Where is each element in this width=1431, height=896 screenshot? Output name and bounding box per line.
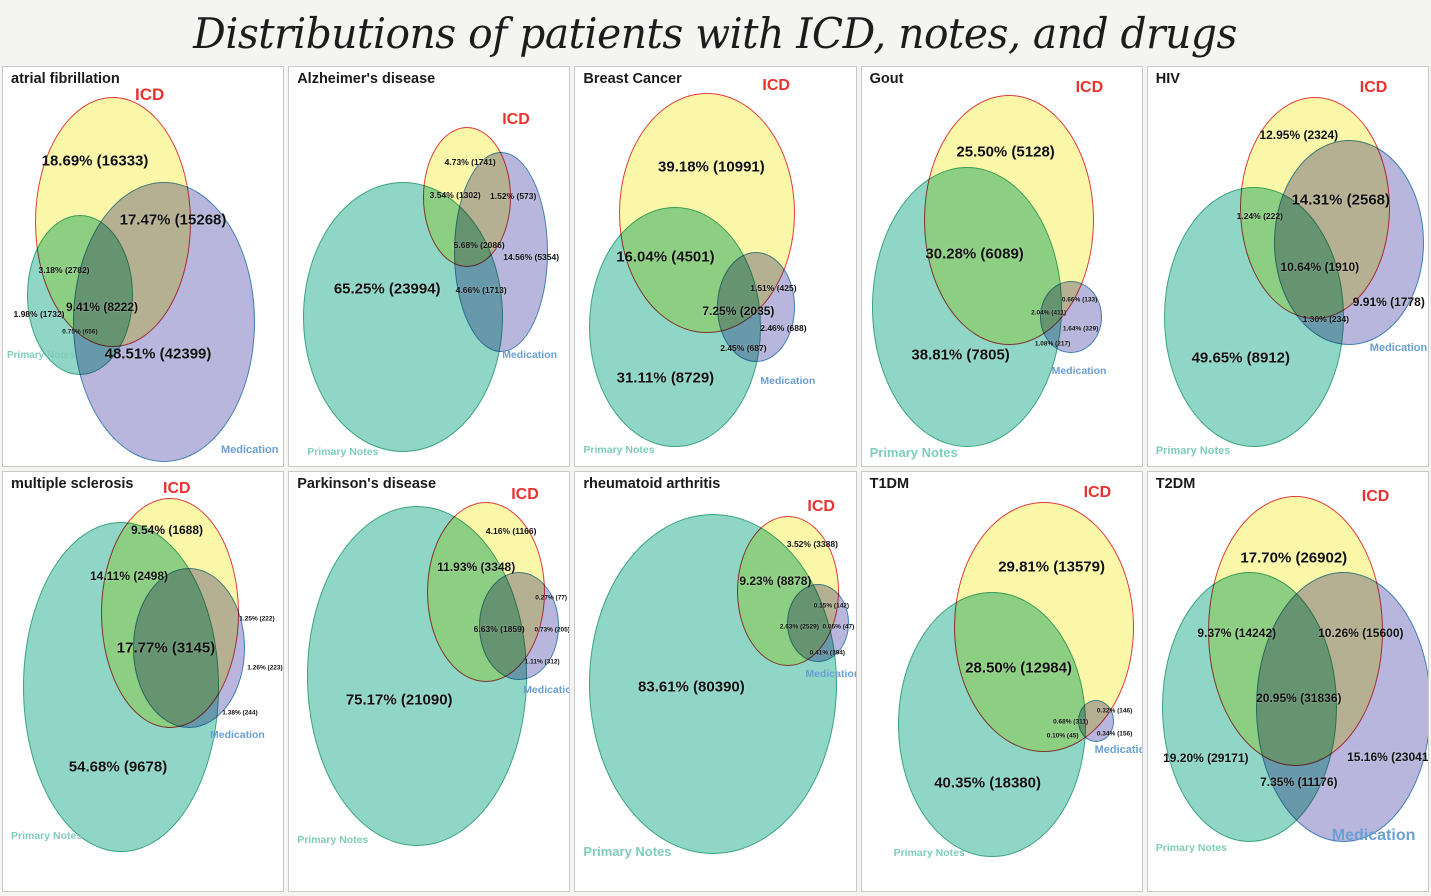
region-label: 5.68% (2086) <box>454 240 505 250</box>
region-label: 83.61% (80390) <box>638 679 745 696</box>
panel-t1dm[interactable]: T1DM ICD Primary Notes Medication 29.81%… <box>861 471 1143 892</box>
region-label: 7.25% (2035) <box>702 304 774 318</box>
set-label-medication: Medication <box>1332 827 1416 845</box>
region-label: 54.68% (9678) <box>69 759 167 776</box>
region-label: 48.51% (42399) <box>105 346 212 363</box>
panel-title: T2DM <box>1156 476 1195 492</box>
venn-diagram: ICD Primary Notes Medication 4.16% (1166… <box>289 472 569 891</box>
region-label: 1.51% (425) <box>750 283 796 293</box>
venn-diagram: ICD Primary Notes Medication 29.81% (135… <box>862 472 1142 891</box>
region-label: 11.93% (3348) <box>437 560 515 574</box>
panel-title: Alzheimer's disease <box>297 71 435 87</box>
set-label-icd: ICD <box>502 111 530 129</box>
region-label: 10.26% (15600) <box>1318 626 1403 640</box>
set-label-icd: ICD <box>1362 488 1390 506</box>
set-label-primary-notes: Primary Notes <box>1156 445 1231 457</box>
region-label: 14.31% (2568) <box>1292 192 1390 209</box>
region-label: 0.10% (45) <box>1047 733 1079 740</box>
panel-title: rheumatoid arthritis <box>583 476 720 492</box>
set-label-icd: ICD <box>762 77 790 95</box>
set-label-primary-notes: Primary Notes <box>870 445 958 460</box>
set-label-medication: Medication <box>760 375 815 387</box>
set-label-primary-notes: Primary Notes <box>297 834 368 846</box>
region-label: 4.73% (1741) <box>445 157 496 167</box>
set-label-primary-notes: Primary Notes <box>1156 842 1227 854</box>
region-label: 25.50% (5128) <box>956 144 1054 161</box>
region-label: 1.38% (244) <box>222 710 257 717</box>
region-label: 7.35% (11176) <box>1260 775 1337 789</box>
region-label: 17.77% (3145) <box>117 640 215 657</box>
set-label-medication: Medication <box>1052 365 1107 377</box>
region-label: 3.54% (1302) <box>430 190 481 200</box>
venn-diagram: ICD Primary Notes Medication 12.95% (232… <box>1148 67 1428 466</box>
region-label: 9.23% (8878) <box>739 574 811 588</box>
region-label: 2.63% (2529) <box>780 624 819 631</box>
region-label: 0.05% (47) <box>822 624 854 631</box>
title-bar: Distributions of patients with ICD, note… <box>0 0 1431 66</box>
region-label: 30.28% (6089) <box>925 246 1023 263</box>
panel-title: Breast Cancer <box>583 71 681 87</box>
panel-alzheimers-disease[interactable]: Alzheimer's disease ICD Primary Notes Me… <box>288 66 570 467</box>
region-label: 6.63% (1859) <box>474 624 525 634</box>
panel-title: multiple sclerosis <box>11 476 134 492</box>
region-label: 0.75% (656) <box>62 329 97 336</box>
panel-gout[interactable]: Gout ICD Primary Notes Medication 25.50%… <box>861 66 1143 467</box>
region-label: 1.30% (234) <box>1303 314 1349 324</box>
region-label: 4.16% (1166) <box>486 526 537 536</box>
panel-multiple-sclerosis[interactable]: multiple sclerosis ICD Primary Notes Med… <box>2 471 284 892</box>
region-label: 0.34% (156) <box>1097 731 1132 738</box>
region-label: 65.25% (23994) <box>334 281 441 298</box>
set-label-medication: Medication <box>805 668 856 680</box>
region-label: 1.24% (222) <box>1237 211 1283 221</box>
region-label: 0.15% (142) <box>814 603 849 610</box>
region-label: 1.52% (573) <box>490 191 536 201</box>
region-label: 10.64% (1910) <box>1280 260 1359 274</box>
ellipse-medication <box>1256 572 1429 842</box>
set-label-icd: ICD <box>1076 79 1104 97</box>
region-label: 9.37% (14242) <box>1197 626 1276 640</box>
region-label: 19.20% (29171) <box>1163 751 1248 765</box>
region-label: 2.45% (687) <box>720 343 766 353</box>
venn-diagram: ICD Primary Notes Medication 3.52% (3388… <box>575 472 855 891</box>
panel-title: atrial fibrillation <box>11 71 120 87</box>
panel-title: T1DM <box>870 476 909 492</box>
region-label: 39.18% (10991) <box>658 159 765 176</box>
region-label: 14.56% (5354) <box>503 252 559 262</box>
region-label: 40.35% (18380) <box>934 775 1041 792</box>
set-label-primary-notes: Primary Notes <box>11 830 82 842</box>
region-label: 2.46% (688) <box>760 323 806 333</box>
set-label-icd: ICD <box>511 486 539 504</box>
panel-breast-cancer[interactable]: Breast Cancer ICD Primary Notes Medicati… <box>574 66 856 467</box>
region-label: 15.16% (23041) <box>1347 750 1429 764</box>
panel-rheumatoid-arthritis[interactable]: rheumatoid arthritis ICD Primary Notes M… <box>574 471 856 892</box>
set-label-medication: Medication <box>221 444 278 456</box>
region-label: 0.41% (394) <box>810 650 845 657</box>
region-label: 2.04% (411) <box>1031 310 1066 317</box>
region-label: 18.69% (16333) <box>42 153 149 170</box>
region-label: 1.11% (312) <box>525 659 560 666</box>
set-label-medication: Medication <box>502 349 557 361</box>
region-label: 1.64% (329) <box>1063 326 1098 333</box>
region-label: 0.27% (77) <box>535 595 567 602</box>
set-label-primary-notes: Primary Notes <box>894 847 965 859</box>
set-label-medication: Medication <box>523 684 570 696</box>
region-label: 0.66% (133) <box>1062 297 1097 304</box>
panel-hiv[interactable]: HIV ICD Primary Notes Medication 12.95% … <box>1147 66 1429 467</box>
ellipse-primary-notes <box>872 167 1062 447</box>
venn-diagram: ICD Primary Notes Medication 25.50% (512… <box>862 67 1142 466</box>
set-label-medication: Medication <box>1370 342 1427 354</box>
set-label-primary-notes: Primary Notes <box>583 844 671 859</box>
set-label-icd: ICD <box>807 498 835 516</box>
region-label: 0.68% (311) <box>1053 719 1088 726</box>
set-label-primary-notes: Primary Notes <box>583 444 654 456</box>
set-label-icd: ICD <box>1360 79 1388 97</box>
set-label-icd: ICD <box>135 85 164 105</box>
region-label: 75.17% (21090) <box>346 692 453 709</box>
set-label-medication: Medication <box>1095 744 1143 756</box>
page-title: Distributions of patients with ICD, note… <box>194 9 1238 58</box>
region-label: 1.98% (1732) <box>13 309 64 319</box>
panel-title: Parkinson's disease <box>297 476 436 492</box>
venn-panel-grid: atrial fibrillation ICD Primary Notes Me… <box>0 66 1431 896</box>
region-label: 16.04% (4501) <box>616 249 714 266</box>
region-label: 3.52% (3388) <box>787 539 838 549</box>
panel-atrial-fibrillation[interactable]: atrial fibrillation ICD Primary Notes Me… <box>2 66 284 467</box>
region-label: 20.95% (31836) <box>1256 691 1341 705</box>
region-label: 17.70% (26902) <box>1240 550 1347 567</box>
region-label: 1.08% (217) <box>1035 341 1070 348</box>
region-label: 49.65% (8912) <box>1192 350 1290 367</box>
region-label: 1.26% (223) <box>247 665 282 672</box>
panel-t2dm[interactable]: T2DM ICD Primary Notes Medication 17.70%… <box>1147 471 1429 892</box>
region-label: 0.73% (205) <box>534 627 569 634</box>
region-label: 17.47% (15268) <box>120 212 227 229</box>
set-label-icd: ICD <box>163 480 191 498</box>
region-label: 38.81% (7805) <box>911 347 1009 364</box>
panel-title: HIV <box>1156 71 1180 87</box>
region-label: 29.81% (13579) <box>998 559 1105 576</box>
region-label: 12.95% (2324) <box>1259 128 1338 142</box>
region-label: 9.91% (1778) <box>1353 295 1425 309</box>
region-label: 4.66% (1713) <box>456 285 507 295</box>
region-label: 3.18% (2782) <box>38 265 89 275</box>
region-label: 14.11% (2498) <box>90 569 168 583</box>
region-label: 31.11% (8729) <box>617 370 715 387</box>
region-label: 9.41% (8222) <box>66 300 138 314</box>
region-label: 28.50% (12984) <box>965 660 1072 677</box>
region-label: 9.54% (1688) <box>131 523 203 537</box>
set-label-medication: Medication <box>210 729 265 741</box>
venn-diagram: ICD Primary Notes Medication 17.70% (269… <box>1148 472 1428 891</box>
region-label: 1.25% (222) <box>239 616 274 623</box>
venn-diagram: ICD Primary Notes Medication 9.54% (1688… <box>3 472 283 891</box>
region-label: 0.32% (146) <box>1097 708 1132 715</box>
set-label-primary-notes: Primary Notes <box>307 446 378 458</box>
venn-diagram: ICD Primary Notes Medication 18.69% (163… <box>3 67 283 466</box>
venn-diagram: ICD Primary Notes Medication 4.73% (1741… <box>289 67 569 466</box>
set-label-icd: ICD <box>1084 484 1112 502</box>
set-label-primary-notes: Primary Notes <box>7 350 75 361</box>
panel-parkinsons-disease[interactable]: Parkinson's disease ICD Primary Notes Me… <box>288 471 570 892</box>
panel-title: Gout <box>870 71 904 87</box>
venn-diagram: ICD Primary Notes Medication 39.18% (109… <box>575 67 855 466</box>
